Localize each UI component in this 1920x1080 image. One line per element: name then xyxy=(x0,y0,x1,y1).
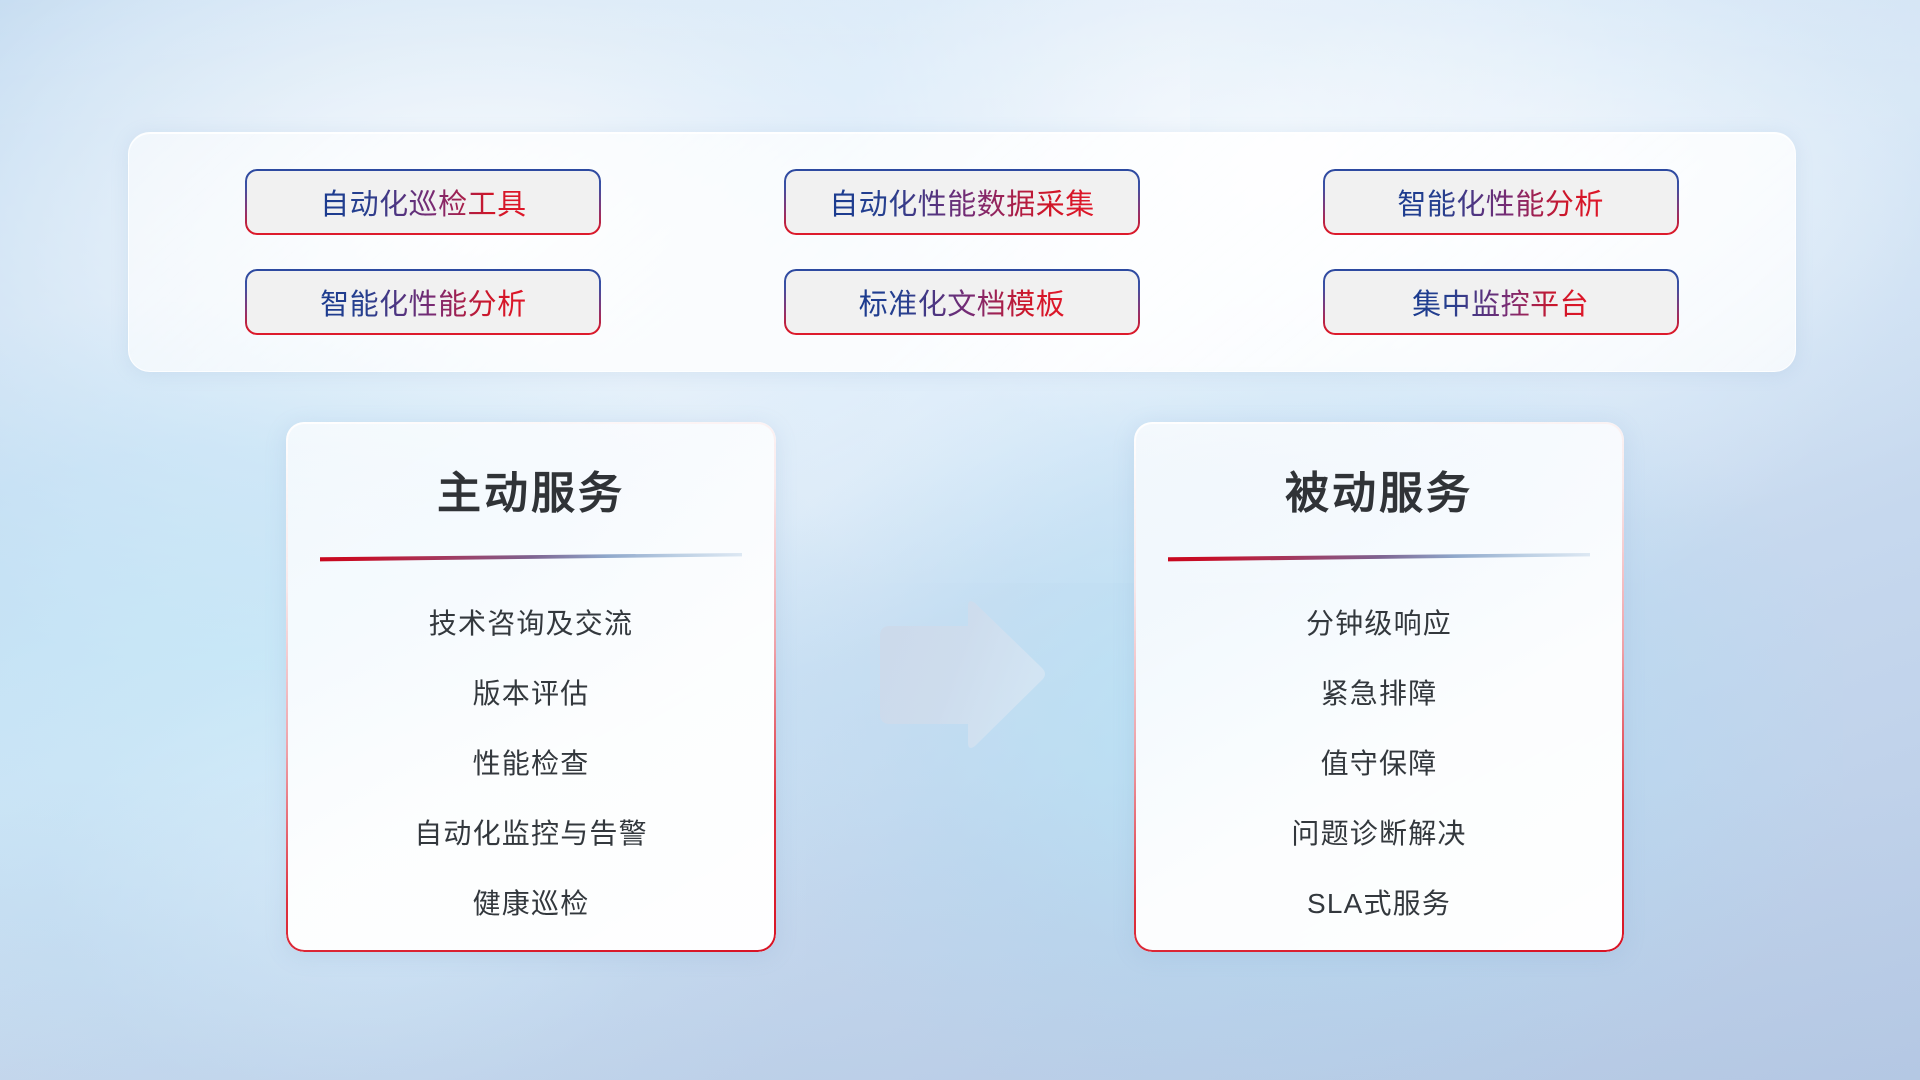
service-item: 值守保障 xyxy=(1134,736,1624,792)
service-item-list: 技术咨询及交流 版本评估 性能检查 自动化监控与告警 健康巡检 xyxy=(286,596,776,932)
card-title: 被动服务 xyxy=(1134,457,1624,521)
service-card-reactive: 被动服务 分钟级响应 紧急排障 xyxy=(1134,422,1624,952)
capability-tag-label: 标准化文档模板 xyxy=(859,281,1066,323)
service-item: 性能检查 xyxy=(286,736,776,792)
capability-tag[interactable]: 自动化性能数据采集 xyxy=(784,169,1140,235)
service-item: 版本评估 xyxy=(286,666,776,722)
service-item: 分钟级响应 xyxy=(1134,596,1624,652)
capability-tags-panel: 自动化巡检工具 自动化性能数据采集 智能化性能分析 智能化性能分析 标准化文档模… xyxy=(128,132,1796,372)
slide-stage: 自动化巡检工具 自动化性能数据采集 智能化性能分析 智能化性能分析 标准化文档模… xyxy=(0,0,1920,1080)
card-divider xyxy=(320,553,742,562)
capability-tag-label: 自动化性能数据采集 xyxy=(829,181,1095,223)
service-item: 技术咨询及交流 xyxy=(286,596,776,652)
service-item-list: 分钟级响应 紧急排障 值守保障 问题诊断解决 SLA式服务 xyxy=(1134,596,1624,932)
capability-tag-label: 集中监控平台 xyxy=(1412,281,1589,323)
capability-tag-label: 智能化性能分析 xyxy=(320,281,527,323)
service-item: 紧急排障 xyxy=(1134,666,1624,722)
capability-tag-label: 自动化巡检工具 xyxy=(320,181,527,223)
card-title: 主动服务 xyxy=(286,457,776,521)
service-item: 健康巡检 xyxy=(286,876,776,932)
card-divider xyxy=(1168,553,1590,562)
capability-tag[interactable]: 自动化巡检工具 xyxy=(245,169,601,235)
service-item: 自动化监控与告警 xyxy=(286,806,776,862)
capability-tag[interactable]: 智能化性能分析 xyxy=(1323,169,1679,235)
capability-tag[interactable]: 智能化性能分析 xyxy=(245,269,601,335)
service-item: 问题诊断解决 xyxy=(1134,806,1624,862)
capability-tag-label: 智能化性能分析 xyxy=(1397,181,1604,223)
capability-tag[interactable]: 标准化文档模板 xyxy=(784,269,1140,335)
service-card-proactive: 主动服务 技术咨询及交流 版本评估 xyxy=(286,422,776,952)
arrow-right-icon xyxy=(872,600,1048,752)
capability-tag[interactable]: 集中监控平台 xyxy=(1323,269,1679,335)
service-item: SLA式服务 xyxy=(1134,876,1624,932)
